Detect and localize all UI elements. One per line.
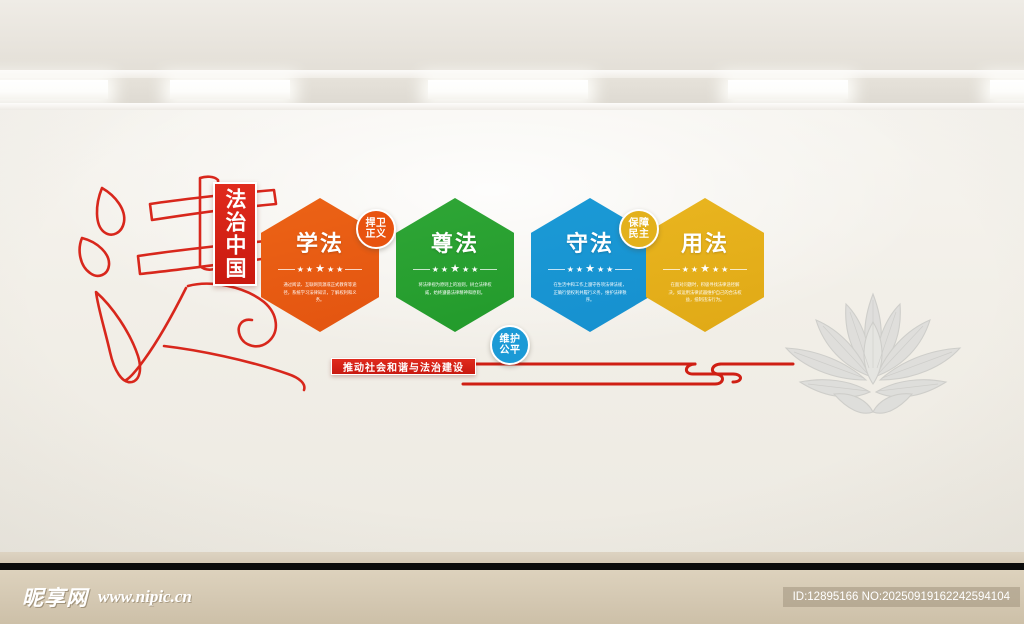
badge-line-1: 保障: [629, 218, 650, 229]
badge-weihu-gongping[interactable]: 维护 公平: [490, 325, 530, 365]
ceiling-light-3: [428, 80, 588, 99]
watermark-bar: 昵享网 www.nipic.cn ID:12895166 NO:20250919…: [0, 570, 1024, 624]
slogan-text: 推动社会和谐与法治建设: [343, 359, 464, 374]
site-url: www.nipic.cn: [98, 587, 192, 607]
hexagon-title: 尊法: [431, 226, 479, 258]
hexagon-yongfa[interactable]: 用法 ★★★★★ 在面对问题时，积极寻找法律途径解决，如运用法律武器维护自己的合…: [646, 198, 764, 332]
room-scene: 法治中国 学法 ★★★★★ 通过阅读、互联网资源或正式教育等途径，系统学习法律知…: [0, 0, 1024, 570]
badge-baozhang-minzhu[interactable]: 保障 民主: [619, 209, 659, 249]
vertical-title-text: 法治中国: [224, 188, 246, 280]
hexagon-title: 守法: [566, 226, 614, 258]
site-logo: 昵享网: [22, 582, 88, 612]
culture-wall-artwork: 法治中国 学法 ★★★★★ 通过阅读、互联网资源或正式教育等途径，系统学习法律知…: [68, 150, 968, 420]
hexagon-title: 学法: [296, 226, 344, 258]
hexagon-description: 在生活中和工作上遵守各项法律法规，正确行使权利并履行义务，维护法律秩序。: [552, 282, 628, 305]
badge-hanwei-zhengyi[interactable]: 捍卫 正义: [356, 209, 396, 249]
vertical-title-plaque: 法治中国: [213, 182, 257, 286]
star-divider: ★★★★★: [548, 264, 632, 275]
ceiling-light-5: [990, 80, 1024, 99]
slogan-ribbon: 推动社会和谐与法治建设: [331, 358, 476, 375]
ceiling: [0, 0, 1024, 72]
image-id-label: ID:12895166 NO:20250919162242594104: [783, 587, 1020, 607]
ceiling-light-2: [170, 80, 290, 99]
lotus-icon: [768, 260, 978, 425]
footer-divider: [0, 563, 1024, 570]
star-divider: ★★★★★: [663, 264, 747, 275]
ceiling-light-1: [0, 80, 108, 99]
hexagon-zunfa[interactable]: 尊法 ★★★★★ 将法律视为原则上的准则，树立法律权威，始终遵循法律精神和原则。: [396, 198, 514, 332]
star-divider: ★★★★★: [413, 264, 497, 275]
hexagon-title: 用法: [681, 226, 729, 258]
hexagon-description: 将法律视为原则上的准则，树立法律权威，始终遵循法律精神和原则。: [417, 282, 493, 297]
badge-line-2: 民主: [629, 229, 650, 240]
badge-line-2: 正义: [366, 229, 387, 240]
badge-line-1: 维护: [500, 334, 521, 345]
badge-line-2: 公平: [500, 345, 521, 356]
hexagon-description: 通过阅读、互联网资源或正式教育等途径，系统学习法律知识，了解权利和义务。: [282, 282, 358, 305]
ceiling-light-4: [728, 80, 848, 99]
hexagon-description: 在面对问题时，积极寻找法律途径解决，如运用法律武器维护自己的合法权益，抵制违法行…: [667, 282, 743, 305]
star-divider: ★★★★★: [278, 264, 362, 275]
badge-line-1: 捍卫: [366, 218, 387, 229]
